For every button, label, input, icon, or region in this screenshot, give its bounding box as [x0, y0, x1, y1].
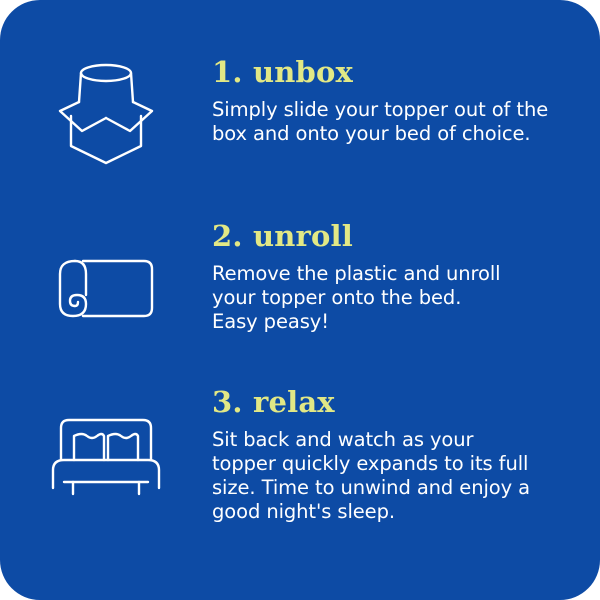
step-3-text-column: 3. relax Sit back and watch as your topp…: [212, 388, 600, 524]
step-1-body-line-1: Simply slide your topper out of the: [212, 98, 552, 122]
step-3-body: Sit back and watch as your topper quickl…: [212, 428, 552, 524]
step-3-body-line-1: Sit back and watch as your: [212, 428, 552, 452]
step-3-icon-column: [0, 388, 212, 498]
step-2-body-line-2: your topper onto the bed.: [212, 286, 552, 310]
rolled-mattress-topper-icon: [53, 250, 159, 324]
step-item-relax: 3. relax Sit back and watch as your topp…: [0, 388, 600, 524]
step-1-body-line-2: box and onto your bed of choice.: [212, 122, 552, 146]
step-2-heading: 2. unroll: [212, 222, 570, 251]
step-1-icon-column: [0, 58, 212, 166]
step-2-icon-column: [0, 222, 212, 324]
step-1-heading: 1. unbox: [212, 58, 570, 87]
step-item-unbox: 1. unbox Simply slide your topper out of…: [0, 58, 600, 166]
open-box-with-rolled-topper-icon: [54, 60, 158, 166]
step-2-body: Remove the plastic and unroll your toppe…: [212, 262, 552, 334]
step-2-body-line-1: Remove the plastic and unroll: [212, 262, 552, 286]
step-3-body-line-4: good night's sleep.: [212, 500, 552, 524]
step-3-body-line-2: topper quickly expands to its full: [212, 452, 552, 476]
step-1-body: Simply slide your topper out of the box …: [212, 98, 552, 146]
step-2-body-line-3: Easy peasy!: [212, 310, 552, 334]
step-3-body-line-3: size. Time to unwind and enjoy a: [212, 476, 552, 500]
step-1-text-column: 1. unbox Simply slide your topper out of…: [212, 58, 600, 146]
step-2-text-column: 2. unroll Remove the plastic and unroll …: [212, 222, 600, 334]
instructions-card: 1. unbox Simply slide your topper out of…: [0, 0, 600, 600]
step-item-unroll: 2. unroll Remove the plastic and unroll …: [0, 222, 600, 334]
bed-with-pillows-icon: [51, 416, 161, 498]
step-3-heading: 3. relax: [212, 388, 570, 417]
